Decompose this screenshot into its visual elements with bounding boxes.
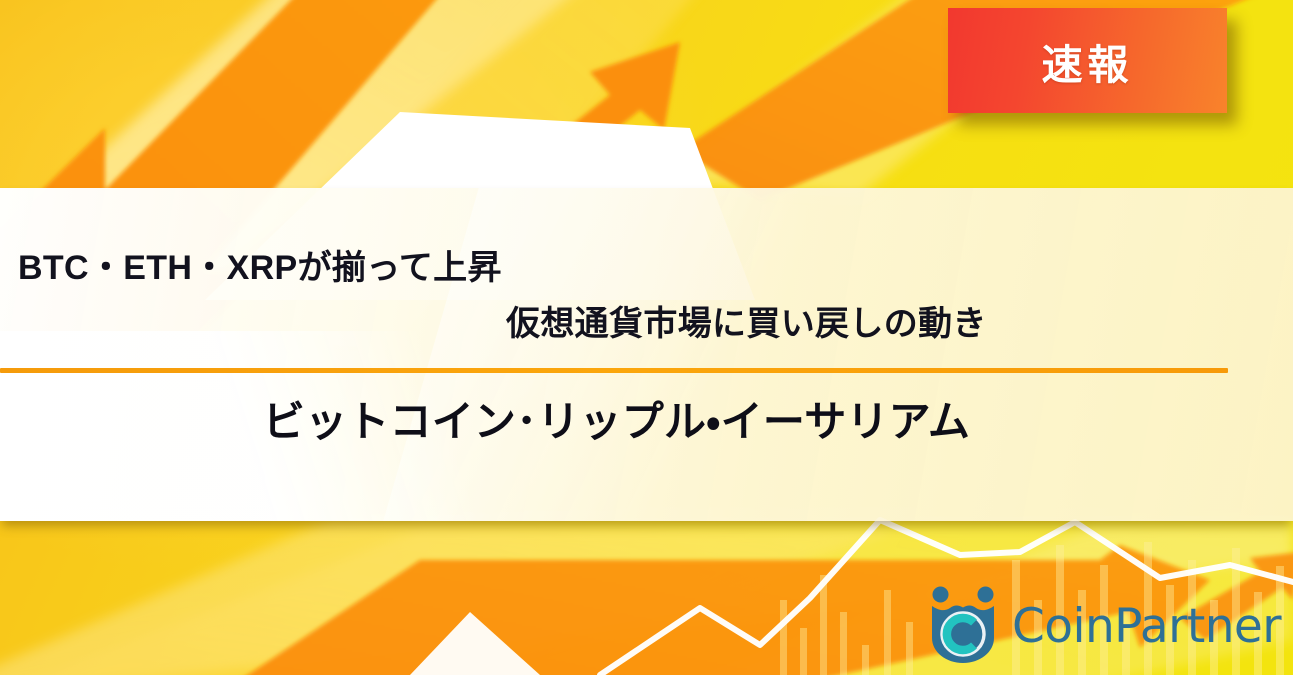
coinpartner-shield-icon	[928, 586, 998, 666]
breaking-news-badge: 速報	[948, 8, 1227, 113]
content-panel: BTC・ETH・XRPが揃って上昇 仮想通貨市場に買い戻しの動き ビットコイン･…	[0, 188, 1293, 521]
coinpartner-logo: CoinPartner	[928, 586, 1281, 666]
crypto-news-banner: 速報 BTC・ETH・XRPが揃って上昇 仮想通貨市場に買い戻しの動き ビットコ…	[0, 0, 1293, 675]
page-title: ビットコイン･リップル・イーサリアム	[0, 388, 1293, 449]
headline-line-1: BTC・ETH・XRPが揃って上昇	[18, 240, 502, 289]
headline-line-2: 仮想通貨市場に買い戻しの動き	[506, 296, 987, 345]
coinpartner-wordmark: CoinPartner	[1012, 603, 1281, 650]
panel-wedge-decor	[376, 188, 965, 521]
divider-rule	[0, 368, 1228, 373]
badge-label: 速報	[1042, 31, 1134, 91]
